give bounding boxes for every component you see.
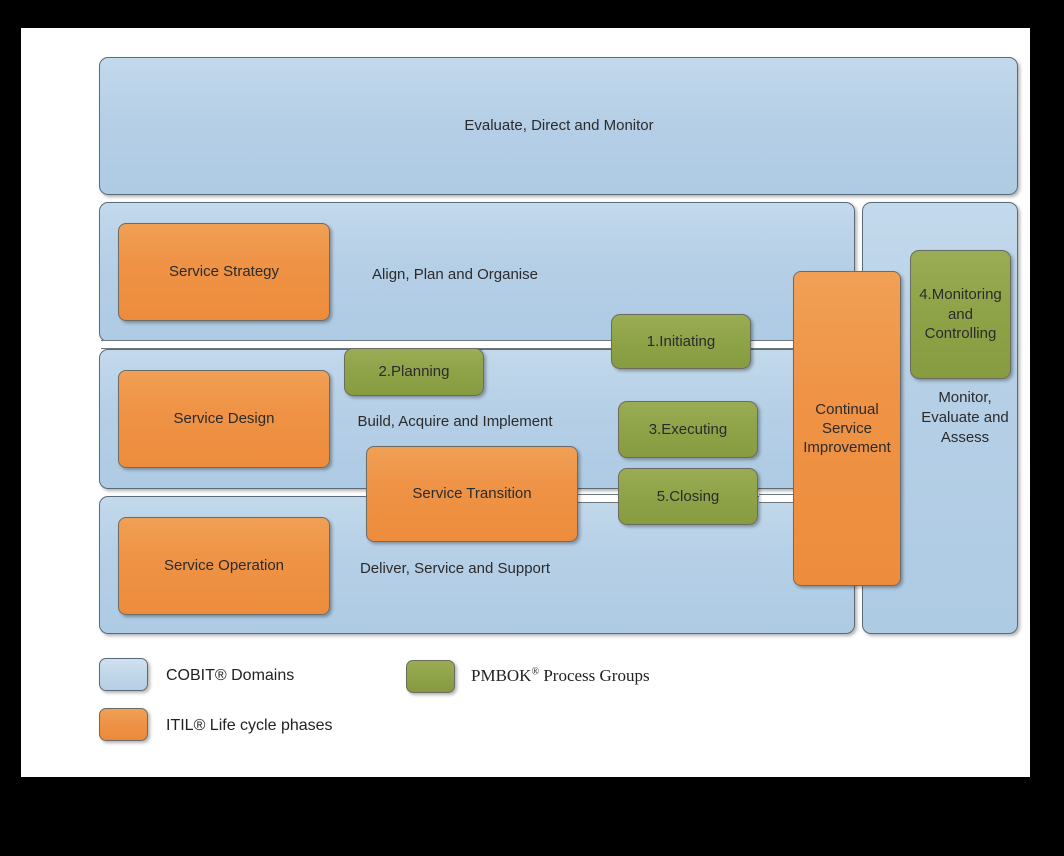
pmbok-label-monitoring-block: 4.Monitoring and Controlling bbox=[919, 285, 1002, 344]
itil-label-service-design: Service Design bbox=[174, 409, 275, 428]
itil-box-service-design[interactable]: Service Design bbox=[118, 370, 330, 468]
pmbok-box-closing[interactable]: 5.Closing bbox=[618, 468, 758, 525]
itil-label-csi-line3: Improvement bbox=[803, 438, 891, 457]
itil-box-continual-service-improvement[interactable]: Continual Service Improvement bbox=[793, 271, 901, 586]
itil-label-service-transition: Service Transition bbox=[412, 484, 531, 503]
pmbok-box-monitoring-and-controlling[interactable]: 4.Monitoring and Controlling bbox=[910, 250, 1011, 379]
cobit-label-monitor-line1: Monitor, bbox=[895, 388, 1035, 408]
pmbok-label-planning: 2.Planning bbox=[379, 362, 450, 382]
itil-box-service-transition[interactable]: Service Transition bbox=[366, 446, 578, 542]
itil-label-service-strategy: Service Strategy bbox=[169, 262, 279, 281]
pmbok-label-executing: 3.Executing bbox=[649, 420, 727, 440]
pmbok-label-initiating: 1.Initiating bbox=[647, 332, 715, 352]
legend-label-pmbok-registered: ® bbox=[531, 666, 539, 677]
pmbok-box-planning[interactable]: 2.Planning bbox=[344, 348, 484, 396]
legend-swatch-pmbok bbox=[406, 660, 455, 693]
pmbok-box-initiating[interactable]: 1.Initiating bbox=[611, 314, 751, 369]
cobit-label-monitor-evaluate-assess: Monitor, Evaluate and Assess bbox=[895, 388, 1035, 447]
legend-label-pmbok: PMBOK® Process Groups bbox=[471, 666, 650, 686]
itil-box-service-operation[interactable]: Service Operation bbox=[118, 517, 330, 615]
pmbok-label-monitoring-line2: and bbox=[919, 305, 1002, 325]
itil-box-service-strategy[interactable]: Service Strategy bbox=[118, 223, 330, 321]
pmbok-label-monitoring-line1: 4.Monitoring bbox=[919, 285, 1002, 305]
legend-label-itil: ITIL® Life cycle phases bbox=[166, 717, 333, 735]
legend-swatch-cobit bbox=[99, 658, 148, 691]
itil-label-csi-line1: Continual bbox=[803, 400, 891, 419]
pmbok-label-closing: 5.Closing bbox=[657, 487, 720, 507]
legend-label-cobit: COBIT® Domains bbox=[166, 667, 294, 685]
legend-label-pmbok-main: PMBOK bbox=[471, 666, 531, 685]
itil-label-csi-line2: Service bbox=[803, 419, 891, 438]
itil-label-service-operation: Service Operation bbox=[164, 556, 284, 575]
cobit-label-monitor-line2: Evaluate and bbox=[895, 408, 1035, 428]
pmbok-label-monitoring-line3: Controlling bbox=[919, 324, 1002, 344]
legend-swatch-itil bbox=[99, 708, 148, 741]
itil-label-csi-block: Continual Service Improvement bbox=[803, 400, 891, 458]
cobit-label-align-plan-organise: Align, Plan and Organise bbox=[325, 265, 585, 285]
diagram-canvas: Evaluate, Direct and Monitor Align, Plan… bbox=[21, 28, 1030, 777]
legend-label-pmbok-tail: Process Groups bbox=[543, 666, 649, 685]
cobit-label-evaluate-direct-monitor: Evaluate, Direct and Monitor bbox=[399, 117, 719, 134]
diagram-stage: Evaluate, Direct and Monitor Align, Plan… bbox=[21, 28, 1030, 777]
cobit-label-monitor-line3: Assess bbox=[895, 428, 1035, 448]
pmbok-box-executing[interactable]: 3.Executing bbox=[618, 401, 758, 458]
